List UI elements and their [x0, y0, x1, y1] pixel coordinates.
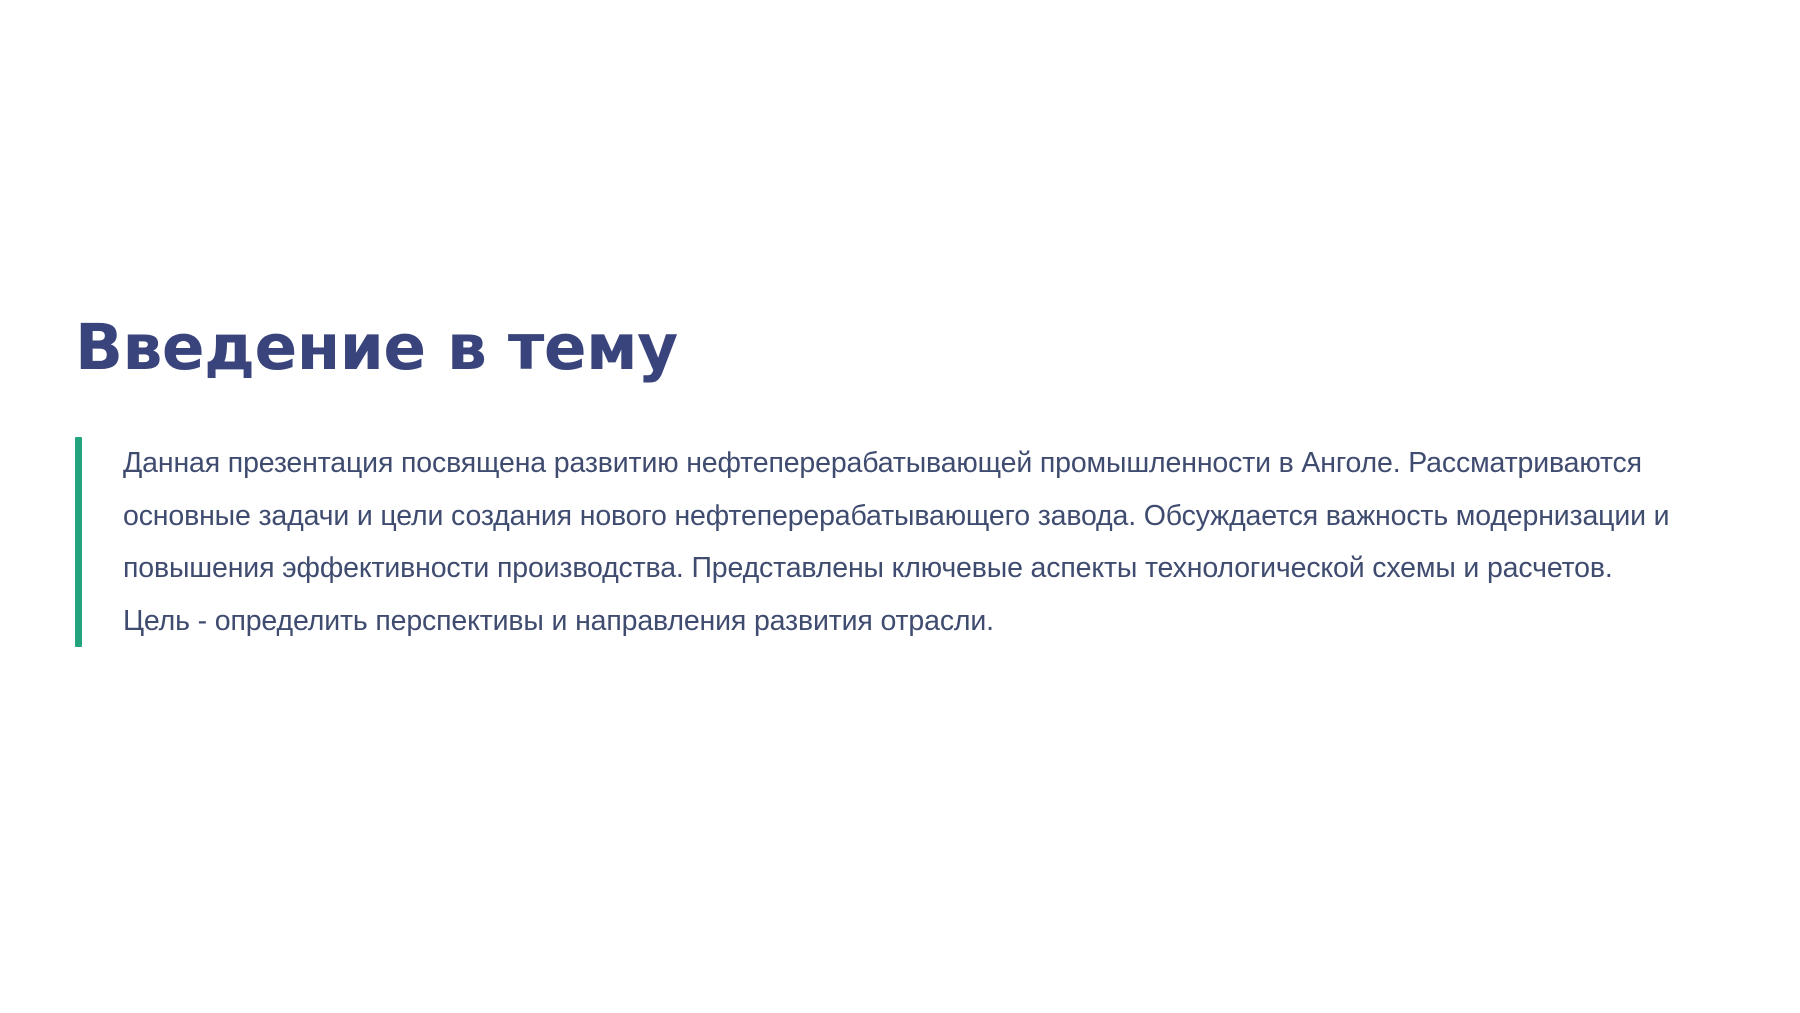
accent-bar	[75, 437, 82, 647]
presentation-slide: Введение в тему Данная презентация посвя…	[0, 0, 1800, 1013]
body-text-block: Данная презентация посвящена развитию не…	[75, 437, 1675, 647]
body-paragraph: Данная презентация посвящена развитию не…	[82, 437, 1675, 647]
page-title: Введение в тему	[75, 313, 678, 384]
